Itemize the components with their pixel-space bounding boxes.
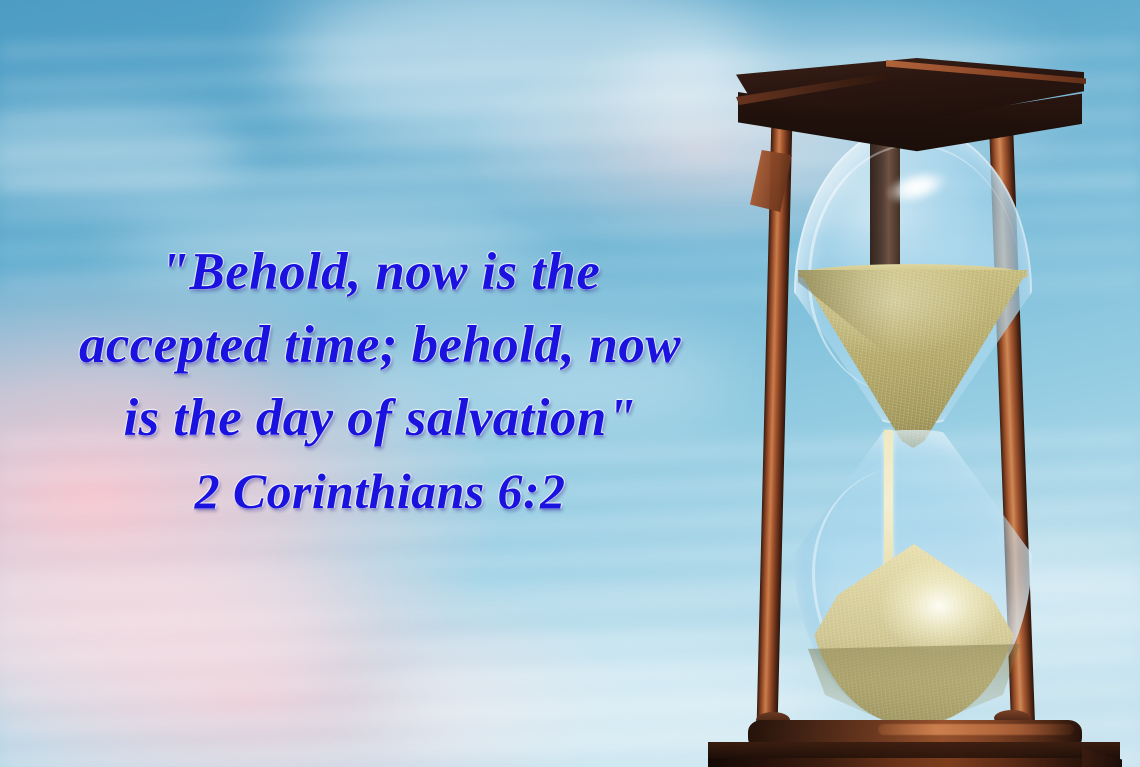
image-canvas: "Behold, now is the accepted time; behol…	[0, 0, 1140, 767]
base-lip-highlight	[878, 724, 1074, 735]
lower-sand-shadow	[808, 644, 1020, 726]
base-body-top-face	[708, 742, 1120, 758]
verse-line-2: accepted time; behold, now	[0, 309, 760, 382]
verse-line-3: is the day of salvation"	[0, 382, 760, 455]
verse-line-1: "Behold, now is the	[0, 236, 760, 309]
verse-reference: 2 Corinthians 6:2	[0, 455, 760, 528]
verse-overlay-text: "Behold, now is the accepted time; behol…	[0, 236, 760, 528]
